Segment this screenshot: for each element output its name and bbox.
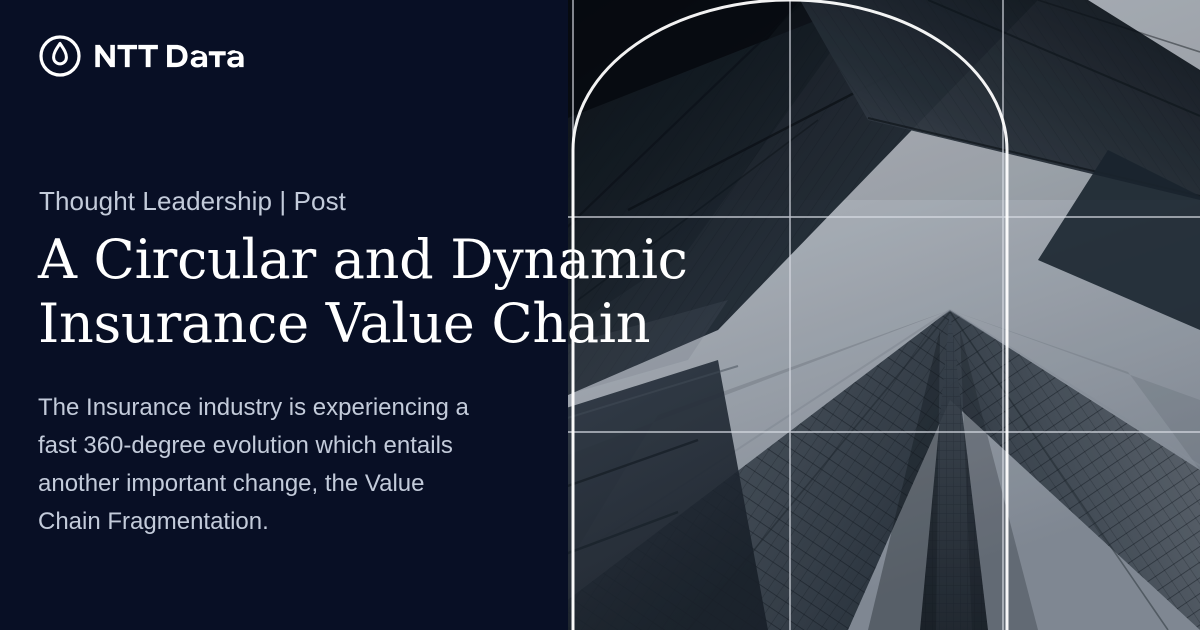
ntt-data-circle-drop-icon	[38, 34, 82, 78]
social-share-card: Thought Leadership | Post A Circular and…	[0, 0, 1200, 630]
summary-line-4: Chain Fragmentation.	[38, 503, 550, 541]
text-column: Thought Leadership | Post A Circular and…	[0, 0, 568, 630]
summary-line-2: fast 360-degree evolution which entails	[38, 427, 550, 465]
summary-line-1: The Insurance industry is experiencing a	[38, 389, 550, 427]
ntt-data-wordmark	[94, 41, 290, 71]
title-line-1: A Circular and Dynamic	[38, 228, 798, 292]
summary-line-3: another important change, the Value	[38, 465, 550, 503]
page-title: A Circular and Dynamic Insurance Value C…	[38, 228, 798, 355]
summary-text: The Insurance industry is experiencing a…	[38, 389, 550, 541]
eyebrow-label: Thought Leadership | Post	[39, 186, 346, 217]
title-line-2: Insurance Value Chain	[38, 292, 798, 356]
brand-logo[interactable]	[38, 34, 290, 78]
